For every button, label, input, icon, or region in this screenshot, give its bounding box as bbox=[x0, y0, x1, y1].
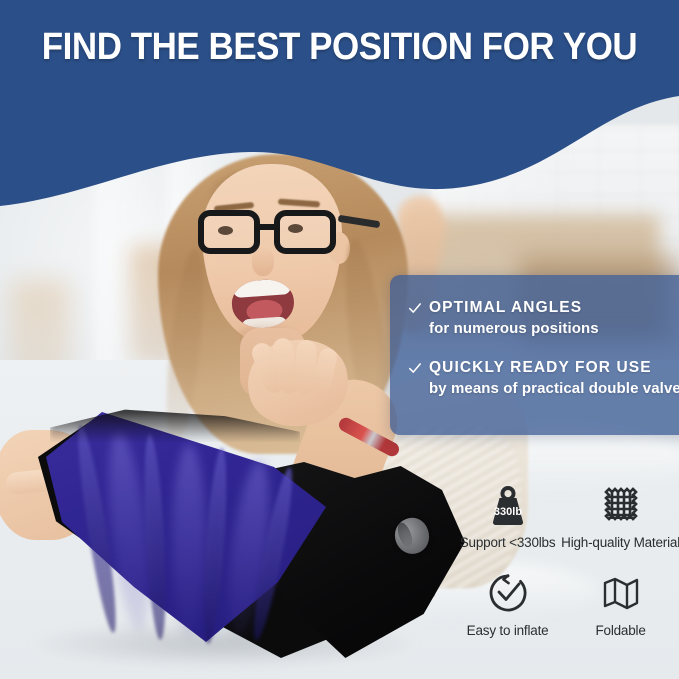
callout-item: OPTIMAL ANGLES for numerous positions bbox=[408, 299, 679, 337]
folded-map-icon bbox=[599, 570, 643, 616]
feature-support-weight: 330lb Support <330lbs bbox=[458, 482, 557, 560]
eyeglass-bridge bbox=[258, 224, 278, 230]
feature-easy-inflate: Easy to inflate bbox=[458, 570, 557, 648]
callout-title-row: QUICKLY READY FOR USE bbox=[408, 359, 679, 377]
callout-title: OPTIMAL ANGLES bbox=[429, 299, 582, 317]
check-icon bbox=[408, 361, 422, 375]
feature-material-quality: High-quality Material bbox=[561, 482, 679, 560]
clock-check-icon bbox=[486, 570, 530, 616]
callout-title: QUICKLY READY FOR USE bbox=[429, 359, 652, 377]
feature-callout-panel: OPTIMAL ANGLES for numerous positions QU… bbox=[390, 275, 679, 435]
feature-foldable: Foldable bbox=[561, 570, 679, 648]
feature-label: High-quality Material bbox=[561, 535, 679, 550]
nose bbox=[252, 246, 274, 276]
weight-badge-text: 330lb bbox=[493, 506, 521, 518]
check-icon bbox=[408, 301, 422, 315]
callout-subtitle: for numerous positions bbox=[429, 320, 679, 337]
eyeglass-lens bbox=[274, 210, 336, 254]
feature-label: Support <330lbs bbox=[460, 535, 556, 550]
pillow-top-edge bbox=[50, 406, 300, 442]
product-marketing-image: FIND THE BEST POSITION FOR YOU OPTIMAL A… bbox=[0, 0, 679, 679]
callout-item: QUICKLY READY FOR USE by means of practi… bbox=[408, 359, 679, 397]
feature-icon-grid: 330lb Support <330lbs High-quality Mater… bbox=[458, 482, 679, 648]
callout-subtitle: by means of practical double valve bbox=[429, 380, 679, 397]
pillow-rib-highlight bbox=[172, 444, 206, 636]
fabric-icon bbox=[599, 482, 643, 528]
callout-title-row: OPTIMAL ANGLES bbox=[408, 299, 679, 317]
eyeglass-lens bbox=[198, 210, 260, 254]
weight-icon: 330lb bbox=[485, 482, 531, 528]
feature-label: Easy to inflate bbox=[467, 623, 549, 638]
teeth bbox=[232, 278, 291, 298]
feature-label: Foldable bbox=[595, 623, 645, 638]
